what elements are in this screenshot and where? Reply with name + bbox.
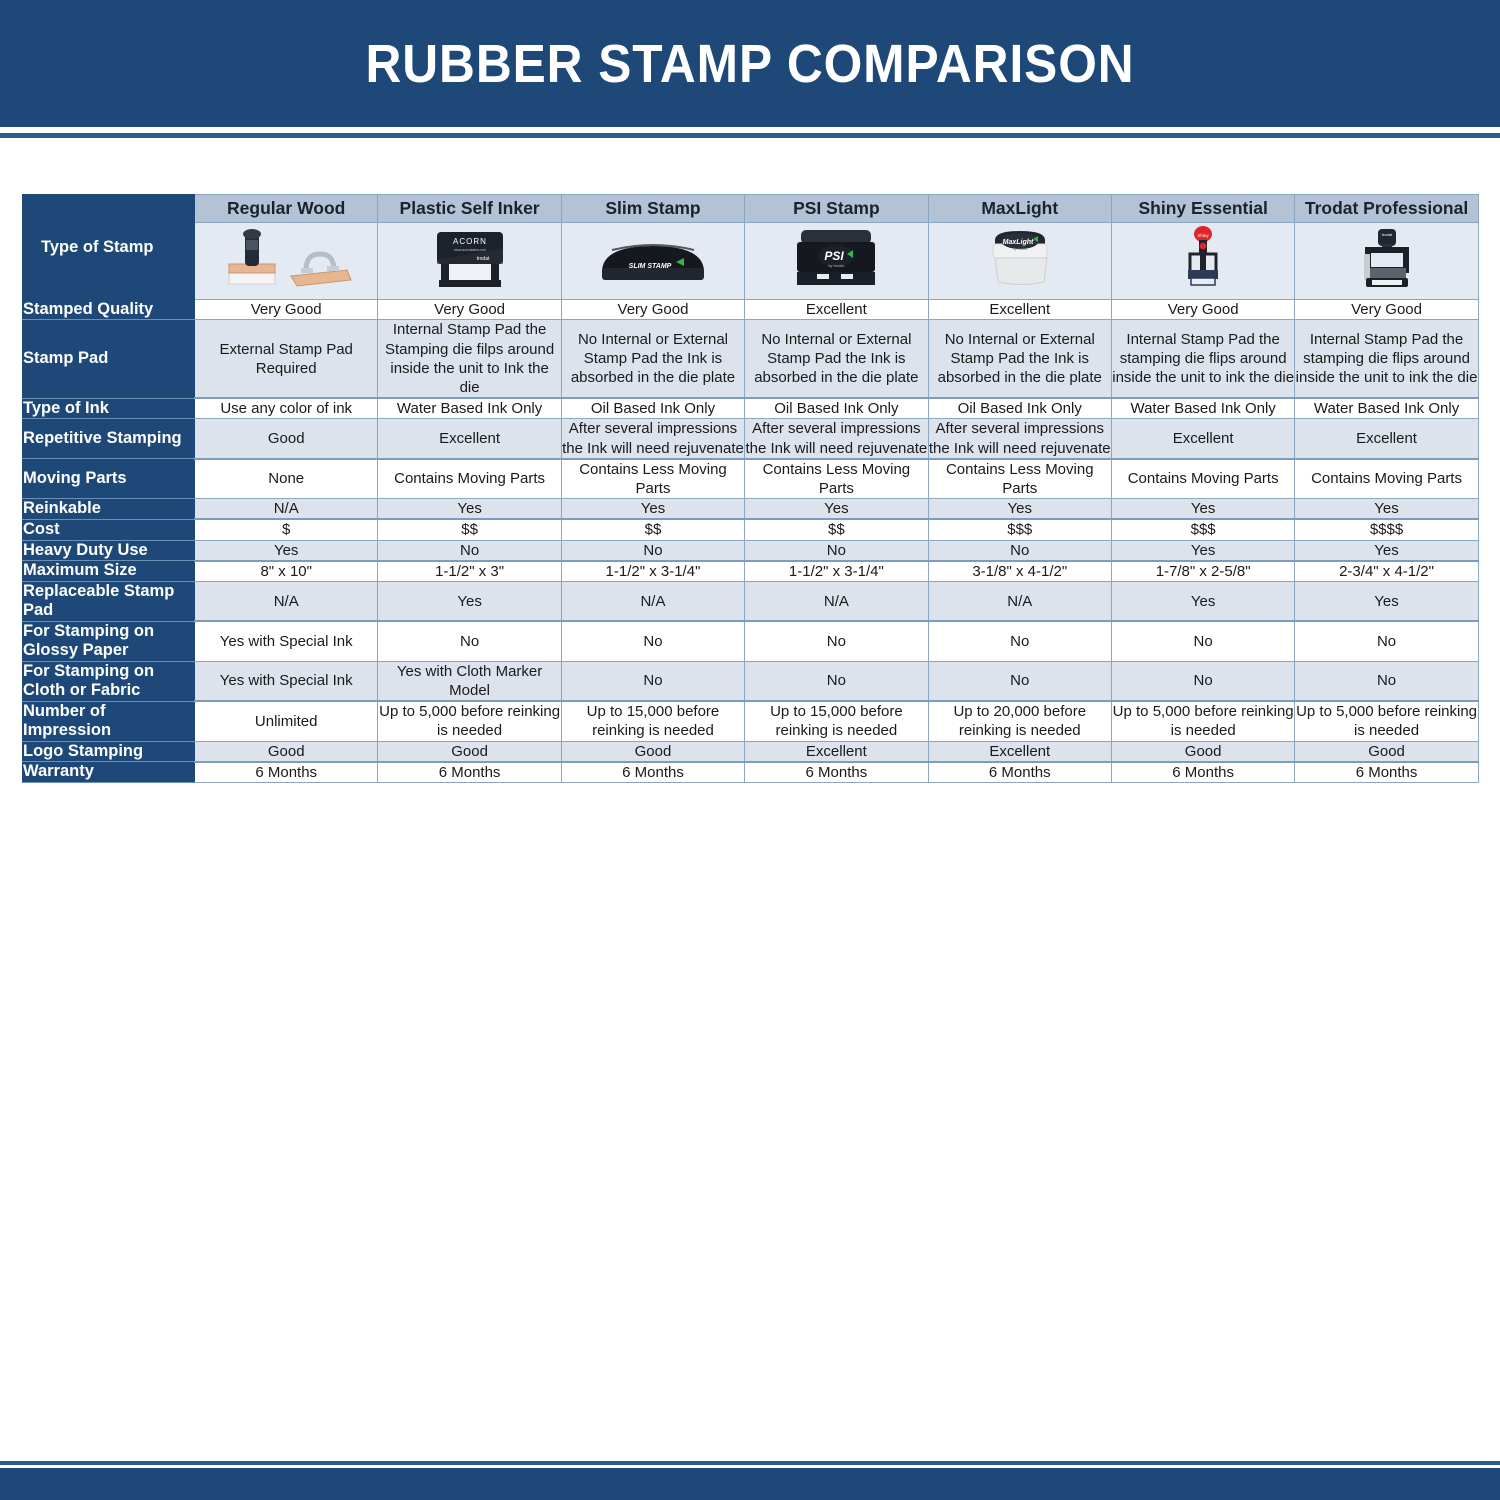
maxlight-stamp-icon: MaxLightby trodat: [929, 224, 1111, 299]
psi-stamp-icon: PSIby trodat: [745, 224, 927, 299]
product-image-cell-trodat-professional: trodat: [1295, 223, 1478, 300]
cell-stamp-pad-plastic-self-inker: Internal Stamp Pad the Stamping die filp…: [378, 320, 561, 398]
cell-stamped-quality-maxlight: Excellent: [928, 300, 1111, 320]
cell-for-stamping-on-glossy-paper-shiny-essential: No: [1111, 621, 1294, 661]
column-header-psi-stamp: PSI Stamp: [745, 195, 928, 223]
cell-stamped-quality-trodat-professional: Very Good: [1295, 300, 1478, 320]
cell-heavy-duty-use-maxlight: No: [928, 540, 1111, 561]
row-label-number-of-impression: Number of Impression: [23, 701, 195, 741]
cell-replaceable-stamp-pad-regular-wood: N/A: [195, 581, 378, 621]
row-label-cost: Cost: [23, 519, 195, 540]
table-row: Warranty6 Months6 Months6 Months6 Months…: [23, 762, 1479, 783]
cell-replaceable-stamp-pad-plastic-self-inker: Yes: [378, 581, 561, 621]
cell-repetitive-stamping-trodat-professional: Excellent: [1295, 419, 1478, 459]
cell-repetitive-stamping-psi-stamp: After several impressions the Ink will n…: [745, 419, 928, 459]
product-image-cell-shiny-essential: Shiny: [1111, 223, 1294, 300]
cell-for-stamping-on-cloth-or-fabric-maxlight: No: [928, 661, 1111, 701]
product-image-cell-maxlight: MaxLightby trodat: [928, 223, 1111, 300]
row-label-warranty: Warranty: [23, 762, 195, 783]
cell-replaceable-stamp-pad-maxlight: N/A: [928, 581, 1111, 621]
cell-logo-stamping-shiny-essential: Good: [1111, 741, 1294, 762]
cell-warranty-maxlight: 6 Months: [928, 762, 1111, 783]
svg-text:trodat: trodat: [1381, 232, 1392, 237]
cell-repetitive-stamping-shiny-essential: Excellent: [1111, 419, 1294, 459]
table-row: Cost$$$$$$$$$$$$$$$$$: [23, 519, 1479, 540]
table-row: ReinkableN/AYesYesYesYesYesYes: [23, 499, 1479, 520]
svg-text:trodat: trodat: [476, 256, 489, 262]
cell-heavy-duty-use-psi-stamp: No: [745, 540, 928, 561]
cell-warranty-psi-stamp: 6 Months: [745, 762, 928, 783]
cell-moving-parts-slim-stamp: Contains Less Moving Parts: [561, 459, 744, 499]
cell-warranty-shiny-essential: 6 Months: [1111, 762, 1294, 783]
table-row: Stamped QualityVery GoodVery GoodVery Go…: [23, 300, 1479, 320]
svg-text:by trodat: by trodat: [1013, 247, 1027, 251]
page-header-banner: RUBBER STAMP COMPARISON: [0, 0, 1500, 127]
row-label-repetitive-stamping: Repetitive Stamping: [23, 419, 195, 459]
cell-logo-stamping-maxlight: Excellent: [928, 741, 1111, 762]
comparison-table-container: Type of StampRegular WoodPlastic Self In…: [22, 194, 1478, 783]
cell-for-stamping-on-glossy-paper-regular-wood: Yes with Special Ink: [195, 621, 378, 661]
cell-warranty-plastic-self-inker: 6 Months: [378, 762, 561, 783]
cell-cost-slim-stamp: $$: [561, 519, 744, 540]
cell-type-of-ink-psi-stamp: Oil Based Ink Only: [745, 398, 928, 419]
column-header-trodat-professional: Trodat Professional: [1295, 195, 1478, 223]
cell-number-of-impression-regular-wood: Unlimited: [195, 701, 378, 741]
column-header-maxlight: MaxLight: [928, 195, 1111, 223]
slim-stamp-icon: SLIM STAMP: [562, 224, 744, 299]
table-row: Number of ImpressionUnlimitedUp to 5,000…: [23, 701, 1479, 741]
cell-heavy-duty-use-plastic-self-inker: No: [378, 540, 561, 561]
cell-stamped-quality-plastic-self-inker: Very Good: [378, 300, 561, 320]
svg-text:www.acornsales.com: www.acornsales.com: [454, 248, 486, 252]
cell-reinkable-plastic-self-inker: Yes: [378, 499, 561, 520]
cell-type-of-ink-plastic-self-inker: Water Based Ink Only: [378, 398, 561, 419]
cell-repetitive-stamping-regular-wood: Good: [195, 419, 378, 459]
cell-for-stamping-on-cloth-or-fabric-regular-wood: Yes with Special Ink: [195, 661, 378, 701]
cell-warranty-slim-stamp: 6 Months: [561, 762, 744, 783]
table-header-row: Type of StampRegular WoodPlastic Self In…: [23, 195, 1479, 223]
plastic-self-inker-icon: ACORNwww.acornsales.comtrodat: [378, 224, 560, 299]
cell-heavy-duty-use-regular-wood: Yes: [195, 540, 378, 561]
cell-replaceable-stamp-pad-shiny-essential: Yes: [1111, 581, 1294, 621]
row-label-for-stamping-on-glossy-paper: For Stamping on Glossy Paper: [23, 621, 195, 661]
table-row: Logo StampingGoodGoodGoodExcellentExcell…: [23, 741, 1479, 762]
wood-handle-stamp-icon: [195, 224, 377, 299]
svg-text:Shiny: Shiny: [1198, 233, 1210, 238]
cell-number-of-impression-shiny-essential: Up to 5,000 before reinking is needed: [1111, 701, 1294, 741]
cell-number-of-impression-psi-stamp: Up to 15,000 before reinking is needed: [745, 701, 928, 741]
table-row: For Stamping on Glossy PaperYes with Spe…: [23, 621, 1479, 661]
cell-for-stamping-on-glossy-paper-plastic-self-inker: No: [378, 621, 561, 661]
cell-for-stamping-on-cloth-or-fabric-shiny-essential: No: [1111, 661, 1294, 701]
cell-repetitive-stamping-plastic-self-inker: Excellent: [378, 419, 561, 459]
cell-moving-parts-psi-stamp: Contains Less Moving Parts: [745, 459, 928, 499]
column-header-slim-stamp: Slim Stamp: [561, 195, 744, 223]
cell-repetitive-stamping-slim-stamp: After several impressions the Ink will n…: [561, 419, 744, 459]
cell-number-of-impression-plastic-self-inker: Up to 5,000 before reinking is needed: [378, 701, 561, 741]
cell-for-stamping-on-glossy-paper-maxlight: No: [928, 621, 1111, 661]
product-image-cell-psi-stamp: PSIby trodat: [745, 223, 928, 300]
row-label-heavy-duty-use: Heavy Duty Use: [23, 540, 195, 561]
page-title: RUBBER STAMP COMPARISON: [365, 37, 1134, 91]
product-image-row: ACORNwww.acornsales.comtrodatSLIM STAMPP…: [23, 223, 1479, 300]
cell-warranty-regular-wood: 6 Months: [195, 762, 378, 783]
cell-replaceable-stamp-pad-trodat-professional: Yes: [1295, 581, 1478, 621]
cell-reinkable-trodat-professional: Yes: [1295, 499, 1478, 520]
cell-moving-parts-trodat-professional: Contains Moving Parts: [1295, 459, 1478, 499]
cell-repetitive-stamping-maxlight: After several impressions the Ink will n…: [928, 419, 1111, 459]
cell-logo-stamping-regular-wood: Good: [195, 741, 378, 762]
product-image-cell-slim-stamp: SLIM STAMP: [561, 223, 744, 300]
cell-cost-shiny-essential: $$$: [1111, 519, 1294, 540]
product-image-cell-plastic-self-inker: ACORNwww.acornsales.comtrodat: [378, 223, 561, 300]
cell-number-of-impression-trodat-professional: Up to 5,000 before reinking is needed: [1295, 701, 1478, 741]
cell-warranty-trodat-professional: 6 Months: [1295, 762, 1478, 783]
cell-maximum-size-slim-stamp: 1-1/2" x 3-1/4": [561, 561, 744, 582]
cell-type-of-ink-regular-wood: Use any color of ink: [195, 398, 378, 419]
rubber-stamp-comparison-table: Type of StampRegular WoodPlastic Self In…: [22, 194, 1479, 783]
cell-stamp-pad-psi-stamp: No Internal or External Stamp Pad the In…: [745, 320, 928, 398]
svg-text:by trodat: by trodat: [829, 263, 845, 268]
cell-stamped-quality-regular-wood: Very Good: [195, 300, 378, 320]
shiny-essential-stamp-icon: Shiny: [1112, 224, 1294, 299]
row-label-stamp-pad: Stamp Pad: [23, 320, 195, 398]
cell-moving-parts-regular-wood: None: [195, 459, 378, 499]
svg-text:PSI: PSI: [825, 249, 845, 263]
row-label-maximum-size: Maximum Size: [23, 561, 195, 582]
product-image-cell-regular-wood: [195, 223, 378, 300]
cell-logo-stamping-psi-stamp: Excellent: [745, 741, 928, 762]
cell-for-stamping-on-cloth-or-fabric-trodat-professional: No: [1295, 661, 1478, 701]
cell-stamp-pad-shiny-essential: Internal Stamp Pad the stamping die flip…: [1111, 320, 1294, 398]
trodat-professional-stamp-icon: trodat: [1295, 224, 1477, 299]
cell-heavy-duty-use-shiny-essential: Yes: [1111, 540, 1294, 561]
cell-replaceable-stamp-pad-psi-stamp: N/A: [745, 581, 928, 621]
cell-type-of-ink-trodat-professional: Water Based Ink Only: [1295, 398, 1478, 419]
svg-text:SLIM STAMP: SLIM STAMP: [629, 263, 672, 270]
cell-stamped-quality-slim-stamp: Very Good: [561, 300, 744, 320]
cell-for-stamping-on-cloth-or-fabric-plastic-self-inker: Yes with Cloth Marker Model: [378, 661, 561, 701]
cell-logo-stamping-trodat-professional: Good: [1295, 741, 1478, 762]
table-row: Type of InkUse any color of inkWater Bas…: [23, 398, 1479, 419]
cell-reinkable-regular-wood: N/A: [195, 499, 378, 520]
table-row: Heavy Duty UseYesNoNoNoNoYesYes: [23, 540, 1479, 561]
cell-cost-plastic-self-inker: $$: [378, 519, 561, 540]
row-label-moving-parts: Moving Parts: [23, 459, 195, 499]
cell-for-stamping-on-glossy-paper-slim-stamp: No: [561, 621, 744, 661]
cell-maximum-size-trodat-professional: 2-3/4" x 4-1/2": [1295, 561, 1478, 582]
cell-moving-parts-shiny-essential: Contains Moving Parts: [1111, 459, 1294, 499]
cell-cost-maxlight: $$$: [928, 519, 1111, 540]
column-header-shiny-essential: Shiny Essential: [1111, 195, 1294, 223]
type-of-stamp-row-label: Type of Stamp: [23, 195, 195, 300]
svg-text:ACORN: ACORN: [453, 237, 487, 246]
column-header-plastic-self-inker: Plastic Self Inker: [378, 195, 561, 223]
cell-for-stamping-on-cloth-or-fabric-psi-stamp: No: [745, 661, 928, 701]
cell-cost-trodat-professional: $$$$: [1295, 519, 1478, 540]
table-row: Moving PartsNoneContains Moving PartsCon…: [23, 459, 1479, 499]
cell-stamped-quality-shiny-essential: Very Good: [1111, 300, 1294, 320]
cell-maximum-size-plastic-self-inker: 1-1/2" x 3": [378, 561, 561, 582]
row-label-type-of-ink: Type of Ink: [23, 398, 195, 419]
cell-maximum-size-psi-stamp: 1-1/2" x 3-1/4": [745, 561, 928, 582]
cell-type-of-ink-maxlight: Oil Based Ink Only: [928, 398, 1111, 419]
cell-reinkable-psi-stamp: Yes: [745, 499, 928, 520]
cell-replaceable-stamp-pad-slim-stamp: N/A: [561, 581, 744, 621]
cell-reinkable-shiny-essential: Yes: [1111, 499, 1294, 520]
cell-stamp-pad-slim-stamp: No Internal or External Stamp Pad the In…: [561, 320, 744, 398]
cell-stamp-pad-maxlight: No Internal or External Stamp Pad the In…: [928, 320, 1111, 398]
row-label-for-stamping-on-cloth-or-fabric: For Stamping on Cloth or Fabric: [23, 661, 195, 701]
row-label-replaceable-stamp-pad: Replaceable Stamp Pad: [23, 581, 195, 621]
cell-for-stamping-on-cloth-or-fabric-slim-stamp: No: [561, 661, 744, 701]
table-row: Maximum Size8" x 10"1-1/2" x 3"1-1/2" x …: [23, 561, 1479, 582]
row-label-reinkable: Reinkable: [23, 499, 195, 520]
cell-heavy-duty-use-trodat-professional: Yes: [1295, 540, 1478, 561]
cell-maximum-size-regular-wood: 8" x 10": [195, 561, 378, 582]
banner-divider-white-lower: [0, 138, 1500, 140]
cell-maximum-size-shiny-essential: 1-7/8" x 2-5/8": [1111, 561, 1294, 582]
row-label-stamped-quality: Stamped Quality: [23, 300, 195, 320]
cell-logo-stamping-plastic-self-inker: Good: [378, 741, 561, 762]
cell-cost-regular-wood: $: [195, 519, 378, 540]
cell-moving-parts-maxlight: Contains Less Moving Parts: [928, 459, 1111, 499]
table-row: For Stamping on Cloth or FabricYes with …: [23, 661, 1479, 701]
cell-reinkable-maxlight: Yes: [928, 499, 1111, 520]
cell-stamp-pad-regular-wood: External Stamp Pad Required: [195, 320, 378, 398]
cell-heavy-duty-use-slim-stamp: No: [561, 540, 744, 561]
cell-type-of-ink-slim-stamp: Oil Based Ink Only: [561, 398, 744, 419]
cell-for-stamping-on-glossy-paper-psi-stamp: No: [745, 621, 928, 661]
cell-number-of-impression-slim-stamp: Up to 15,000 before reinking is needed: [561, 701, 744, 741]
row-label-logo-stamping: Logo Stamping: [23, 741, 195, 762]
table-row: Replaceable Stamp PadN/AYesN/AN/AN/AYesY…: [23, 581, 1479, 621]
cell-type-of-ink-shiny-essential: Water Based Ink Only: [1111, 398, 1294, 419]
page-footer-banner: [0, 1468, 1500, 1500]
cell-logo-stamping-slim-stamp: Good: [561, 741, 744, 762]
cell-number-of-impression-maxlight: Up to 20,000 before reinking is needed: [928, 701, 1111, 741]
column-header-regular-wood: Regular Wood: [195, 195, 378, 223]
cell-cost-psi-stamp: $$: [745, 519, 928, 540]
table-row: Repetitive StampingGoodExcellentAfter se…: [23, 419, 1479, 459]
cell-stamped-quality-psi-stamp: Excellent: [745, 300, 928, 320]
cell-maximum-size-maxlight: 3-1/8" x 4-1/2": [928, 561, 1111, 582]
svg-text:MaxLight: MaxLight: [1002, 239, 1033, 246]
cell-for-stamping-on-glossy-paper-trodat-professional: No: [1295, 621, 1478, 661]
cell-stamp-pad-trodat-professional: Internal Stamp Pad the stamping die flip…: [1295, 320, 1478, 398]
cell-reinkable-slim-stamp: Yes: [561, 499, 744, 520]
table-row: Stamp PadExternal Stamp Pad RequiredInte…: [23, 320, 1479, 398]
cell-moving-parts-plastic-self-inker: Contains Moving Parts: [378, 459, 561, 499]
